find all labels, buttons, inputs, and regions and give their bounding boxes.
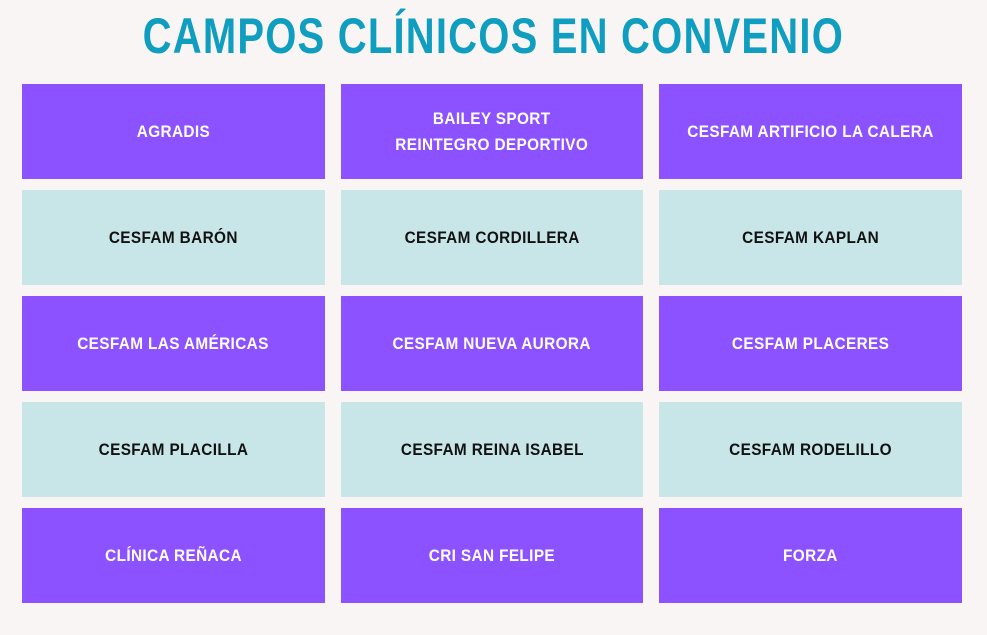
site-card[interactable]: FORZA bbox=[659, 508, 962, 603]
site-card-label: CESFAM RODELILLO bbox=[729, 437, 892, 463]
page-title-container: CAMPOS CLÍNICOS EN CONVENIO bbox=[0, 6, 987, 66]
site-card[interactable]: AGRADIS bbox=[22, 84, 325, 179]
site-card[interactable]: CESFAM LAS AMÉRICAS bbox=[22, 296, 325, 391]
site-card[interactable]: CESFAM RODELILLO bbox=[659, 402, 962, 497]
site-card-label: BAILEY SPORT REINTEGRO DEPORTIVO bbox=[396, 106, 589, 158]
site-card-label: CESFAM NUEVA AURORA bbox=[393, 331, 591, 357]
site-card[interactable]: CESFAM REINA ISABEL bbox=[341, 402, 644, 497]
site-card[interactable]: CESFAM CORDILLERA bbox=[341, 190, 644, 285]
site-card-label: CESFAM PLACILLA bbox=[98, 437, 248, 463]
site-card-label: CESFAM KAPLAN bbox=[742, 225, 879, 251]
site-card[interactable]: CESFAM BARÓN bbox=[22, 190, 325, 285]
site-card[interactable]: CRI SAN FELIPE bbox=[341, 508, 644, 603]
page-title: CAMPOS CLÍNICOS EN CONVENIO bbox=[143, 6, 844, 66]
site-card-label: CESFAM ARTIFICIO LA CALERA bbox=[687, 119, 933, 145]
site-card[interactable]: BAILEY SPORT REINTEGRO DEPORTIVO bbox=[341, 84, 644, 179]
site-card[interactable]: CESFAM ARTIFICIO LA CALERA bbox=[659, 84, 962, 179]
site-card[interactable]: CLÍNICA REÑACA bbox=[22, 508, 325, 603]
site-card[interactable]: CESFAM PLACERES bbox=[659, 296, 962, 391]
clinical-sites-grid: AGRADISBAILEY SPORT REINTEGRO DEPORTIVOC… bbox=[22, 84, 962, 603]
site-card-label: FORZA bbox=[783, 543, 838, 569]
site-card-label: CLÍNICA REÑACA bbox=[105, 543, 242, 569]
site-card-label: CESFAM REINA ISABEL bbox=[400, 437, 583, 463]
site-card-label: CESFAM PLACERES bbox=[732, 331, 889, 357]
site-card-label: AGRADIS bbox=[137, 119, 210, 145]
site-card[interactable]: CESFAM NUEVA AURORA bbox=[341, 296, 644, 391]
site-card[interactable]: CESFAM KAPLAN bbox=[659, 190, 962, 285]
site-card[interactable]: CESFAM PLACILLA bbox=[22, 402, 325, 497]
site-card-label: CESFAM LAS AMÉRICAS bbox=[78, 331, 270, 357]
slide-root: CAMPOS CLÍNICOS EN CONVENIO AGRADISBAILE… bbox=[0, 0, 987, 635]
site-card-label: CESFAM CORDILLERA bbox=[404, 225, 579, 251]
site-card-label: CRI SAN FELIPE bbox=[429, 543, 555, 569]
site-card-label: CESFAM BARÓN bbox=[109, 225, 238, 251]
